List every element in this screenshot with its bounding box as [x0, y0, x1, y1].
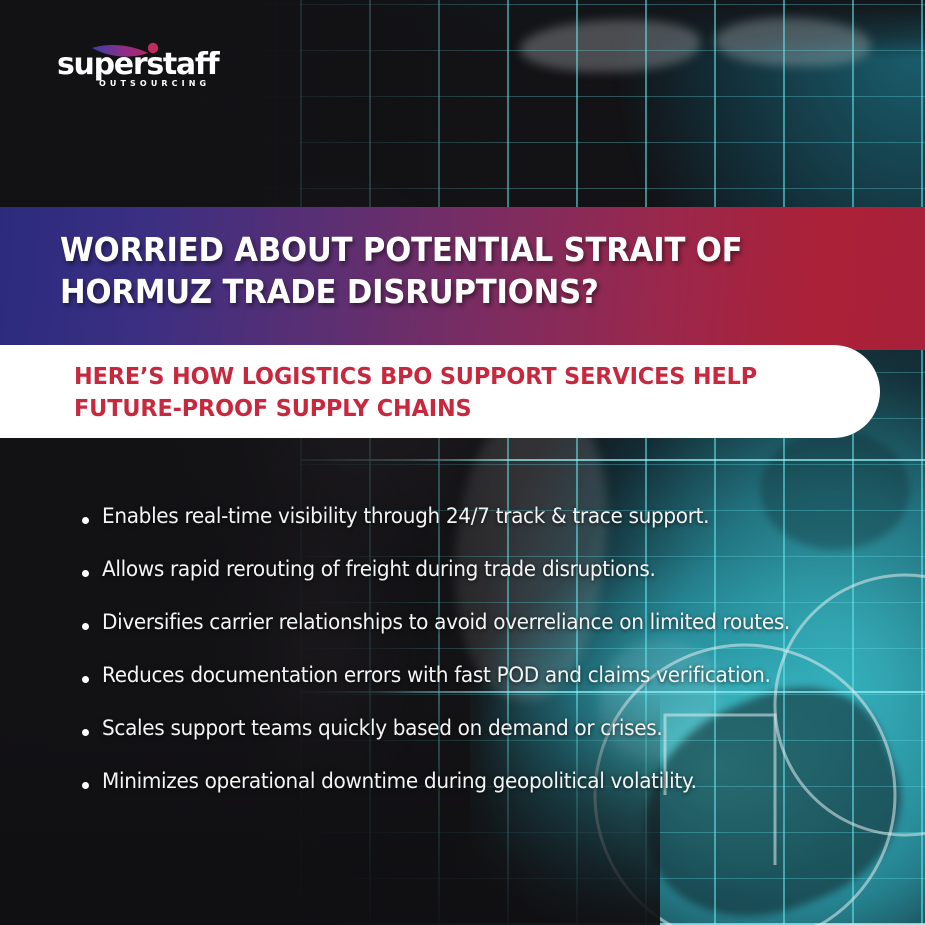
logo-tagline: OUTSOURCING	[99, 79, 210, 88]
superstaff-logo[interactable]: superstaff ® OUTSOURCING	[57, 44, 232, 86]
headline-banner: WORRIED ABOUT POTENTIAL STRAIT OF HORMUZ…	[0, 207, 925, 350]
logo-registered-mark: ®	[209, 50, 217, 59]
benefits-list: Enables real-time visibility through 24/…	[78, 503, 898, 821]
list-item: Scales support teams quickly based on de…	[78, 715, 898, 768]
list-item-label: Minimizes operational downtime during ge…	[102, 768, 697, 794]
list-item: Minimizes operational downtime during ge…	[78, 768, 898, 821]
list-item-label: Scales support teams quickly based on de…	[102, 715, 662, 741]
headline-text: WORRIED ABOUT POTENTIAL STRAIT OF HORMUZ…	[60, 229, 823, 312]
list-item: Enables real-time visibility through 24/…	[78, 503, 898, 556]
list-item: Reduces documentation errors with fast P…	[78, 662, 898, 715]
subtitle-text: HERE’S HOW LOGISTICS BPO SUPPORT SERVICE…	[74, 361, 825, 424]
bullet-dot-icon	[82, 676, 89, 683]
bullet-dot-icon	[82, 623, 89, 630]
list-item-label: Allows rapid rerouting of freight during…	[102, 556, 656, 582]
infographic-canvas: superstaff ® OUTSOURCING WORRIED ABOUT P…	[0, 0, 925, 925]
bullet-dot-icon	[82, 570, 89, 577]
bullet-dot-icon	[82, 782, 89, 789]
list-item-label: Enables real-time visibility through 24/…	[102, 503, 709, 529]
bullet-dot-icon	[82, 729, 89, 736]
list-item-label: Reduces documentation errors with fast P…	[102, 662, 771, 688]
bullet-dot-icon	[82, 517, 89, 524]
list-item: Diversifies carrier relationships to avo…	[78, 609, 898, 662]
list-item-label: Diversifies carrier relationships to avo…	[102, 609, 790, 635]
list-item: Allows rapid rerouting of freight during…	[78, 556, 898, 609]
logo-wordmark: superstaff	[57, 50, 218, 80]
subtitle-pill: HERE’S HOW LOGISTICS BPO SUPPORT SERVICE…	[0, 345, 880, 438]
